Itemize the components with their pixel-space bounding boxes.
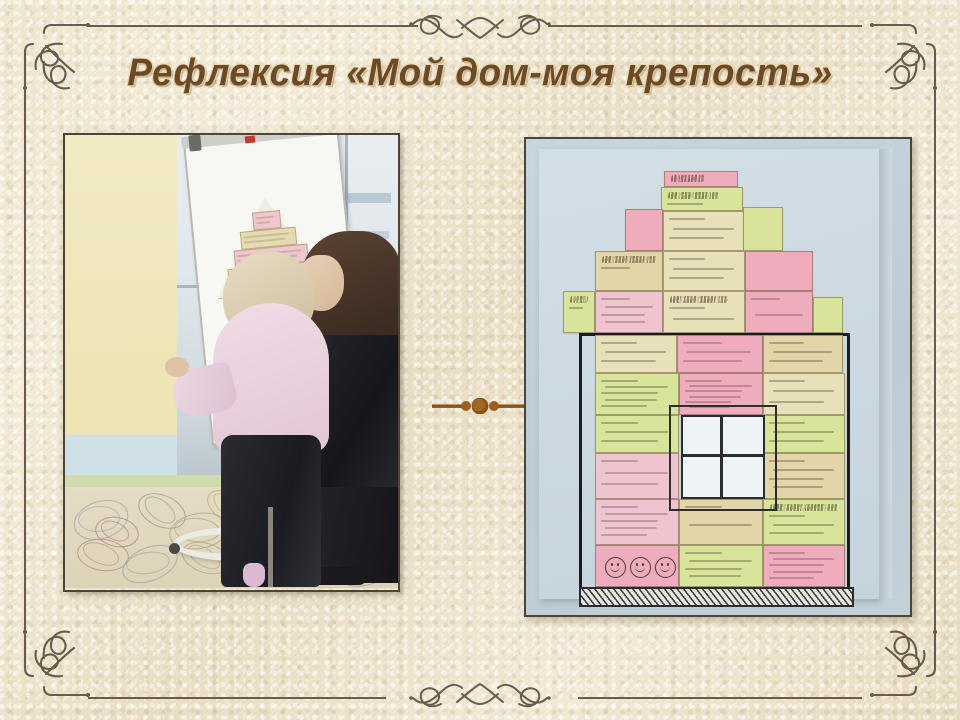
handwriting-line [769,380,805,382]
handwriting-line [773,571,823,573]
note-keyword-script [670,175,704,182]
poster-right-edge [879,149,892,599]
handwriting-line [669,258,705,260]
handwriting-line [605,399,657,401]
corner-flourish-bottom-right-icon [846,606,938,698]
handwriting-line [689,524,752,526]
smiley-face-icon [655,557,676,578]
sticky-note[interactable] [661,187,743,211]
handwriting-line [601,267,630,269]
flipchart-clip [188,134,201,151]
handwriting-line [769,342,804,344]
handwriting-line [601,506,639,508]
sticky-note[interactable] [813,297,843,333]
house-foundation [579,587,854,607]
sticky-note[interactable] [595,415,679,453]
handwriting-line [683,360,742,362]
child-hand [165,357,189,377]
handwriting-line [673,318,734,320]
handwriting-line [769,360,823,362]
note-keyword-script [669,296,728,303]
handwriting-line [605,386,668,388]
note-keyword-script [569,296,588,303]
wall-edge-left [579,333,582,589]
handwriting-line [773,351,832,353]
corner-flourish-bottom-left-icon [22,606,114,698]
handwriting-line [601,298,630,300]
handwriting-line [601,534,647,536]
sticky-note[interactable] [663,251,745,291]
slide-canvas: Рефлексия «Мой дом-моя крепость» [0,0,960,720]
frame-line-bottom-right [578,697,862,699]
handwriting-line [755,314,803,316]
handwriting-line [773,558,834,560]
handwriting-line [673,228,734,230]
handwriting-line [687,351,752,353]
handwriting-line [689,560,752,562]
handwriting-line [769,478,825,480]
handwriting-line [667,203,703,205]
sticky-note[interactable] [743,207,783,251]
handwriting-line [769,552,805,554]
footer-scroll-ornament-icon [405,680,555,716]
handwriting-line [769,401,825,403]
frame-line-top-right [548,25,862,27]
handwriting-line [569,307,583,309]
flipchart-marker [245,136,256,144]
handwriting-line [605,351,666,353]
handwriting-line [673,268,734,270]
header-scroll-ornament-icon [405,6,555,42]
frame-line-left [24,90,26,635]
handwriting-line [605,472,668,474]
handwriting-line [605,527,657,529]
handwriting-line [689,385,752,387]
note-keyword-script [769,504,838,511]
poster-sheet [539,149,879,599]
child-leg-gap [268,507,273,587]
handwriting-line [669,307,705,309]
sticky-note[interactable] [763,335,843,373]
handwriting-line [605,513,668,515]
handwriting-line [685,568,742,570]
child-sock [243,563,265,587]
slide-title: Рефлексия «Мой дом-моя крепость» [14,52,945,95]
frame-line-right [934,90,936,635]
handwriting-line [685,380,723,382]
handwriting-line [683,342,722,344]
note-keyword-script [667,192,718,199]
handwriting-line [689,396,741,398]
sticky-note[interactable] [663,211,745,251]
flipchart-wheel-left [169,543,180,554]
handwriting-line [601,380,639,382]
smiley-face-icon [630,557,651,578]
handwriting-line [669,218,705,220]
handwriting-line [769,577,814,579]
frame-line-bottom-left [88,697,386,699]
note-keyword-script [601,256,656,263]
handwriting-line [601,314,645,316]
handwriting-line [601,342,637,344]
sticky-note[interactable] [677,335,763,373]
handwriting-line [751,298,780,300]
handwriting-line [685,401,731,403]
photo-left[interactable] [63,133,400,592]
handwriting-line [773,431,834,433]
handwriting-line [605,306,653,308]
handwriting-line [769,440,825,442]
handwriting-line [769,515,805,517]
sticky-note[interactable] [595,335,677,373]
handwriting-line [601,405,647,407]
handwriting-line [601,422,639,424]
wall-edge-right [847,333,850,589]
sticky-note[interactable] [625,209,663,251]
sticky-note[interactable] [745,251,813,291]
handwriting-line [773,469,834,471]
handwriting-line [773,524,834,526]
handwriting-line [601,440,658,442]
handwriting-line [605,431,668,433]
house-window-outer [669,405,777,511]
handwriting-line [601,460,639,462]
smiley-face-icon [605,557,626,578]
frame-line-top-left [88,25,418,27]
handwriting-line [601,520,658,522]
handwriting-line [685,552,723,554]
center-bead-divider-icon [430,398,530,414]
photo-right[interactable] [524,137,912,617]
handwriting-line [601,360,657,362]
